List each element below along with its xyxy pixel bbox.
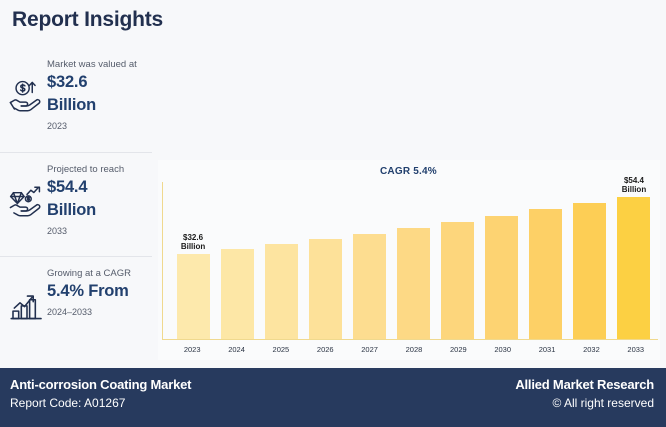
- insights-list: Market was valued at $32.6 Billion 2023 …: [0, 48, 152, 368]
- bar-2027: [353, 234, 386, 339]
- bar-slot: $32.6Billion: [171, 182, 215, 339]
- bar-2030: [485, 216, 518, 340]
- insight-period: 2024–2033: [47, 303, 146, 319]
- bar-slot: [480, 182, 524, 339]
- x-tick-2027: 2027: [347, 342, 391, 358]
- bar-slot: [436, 182, 480, 339]
- x-tick-2024: 2024: [214, 342, 258, 358]
- report-insights-infographic: Report Insights Market was valued at $32…: [0, 0, 666, 427]
- insight-value: $54.4: [47, 176, 146, 199]
- bar-2029: [441, 222, 474, 339]
- insight-item-market-value: Market was valued at $32.6 Billion 2023: [0, 48, 152, 152]
- insight-value: $32.6: [47, 71, 146, 94]
- x-tick-2032: 2032: [569, 342, 613, 358]
- x-tick-2028: 2028: [392, 342, 436, 358]
- bar-2024: [221, 249, 254, 339]
- bar-slot: [303, 182, 347, 339]
- page-title: Report Insights: [12, 8, 163, 32]
- x-tick-2023: 2023: [170, 342, 214, 358]
- bar-2033: [617, 197, 650, 339]
- chart-plot-area: $32.6Billion$54.4Billion: [162, 182, 658, 340]
- insight-period: 2023: [47, 117, 146, 133]
- copyright-notice: © All right reserved: [515, 394, 654, 412]
- cagr-annotation: CAGR 5.4%: [380, 166, 437, 177]
- footer-right-group: Allied Market Research © All right reser…: [515, 376, 654, 412]
- company-name: Allied Market Research: [515, 376, 654, 394]
- footer-left-group: Anti-corrosion Coating Market Report Cod…: [10, 376, 191, 412]
- bar-chart-arrow-up-icon: [6, 284, 48, 326]
- bar-2031: [529, 209, 562, 339]
- insight-item-cagr: Growing at a CAGR 5.4% From 2024–2033: [0, 256, 152, 360]
- x-tick-2030: 2030: [481, 342, 525, 358]
- x-tick-2026: 2026: [303, 342, 347, 358]
- bar-slot: [259, 182, 303, 339]
- bar-series: $32.6Billion$54.4Billion: [171, 182, 656, 339]
- insight-unit: Billion: [47, 94, 146, 117]
- bar-2023: [177, 254, 210, 339]
- market-forecast-bar-chart: CAGR 5.4% $32.6Billion$54.4Billion 20232…: [158, 160, 660, 360]
- bar-slot: [347, 182, 391, 339]
- insight-caption: Projected to reach: [47, 153, 146, 176]
- x-tick-2033: 2033: [614, 342, 658, 358]
- bar-slot: [568, 182, 612, 339]
- bar-2032: [573, 203, 606, 339]
- insight-unit: Billion: [47, 199, 146, 222]
- insight-caption: Market was valued at: [47, 48, 146, 71]
- insight-item-projected-value: Projected to reach $54.4 Billion 2033: [0, 152, 152, 256]
- bar-slot: [524, 182, 568, 339]
- report-code: Report Code: A01267: [10, 394, 191, 412]
- x-tick-2031: 2031: [525, 342, 569, 358]
- x-tick-2029: 2029: [436, 342, 480, 358]
- bar-2026: [309, 239, 342, 339]
- footer-bar: Anti-corrosion Coating Market Report Cod…: [0, 368, 666, 427]
- bar-slot: [215, 182, 259, 339]
- bar-slot: [391, 182, 435, 339]
- x-tick-2025: 2025: [259, 342, 303, 358]
- x-axis-tick-labels: 2023202420252026202720282029203020312032…: [170, 342, 658, 358]
- hand-holding-diamond-growth-icon: [6, 180, 48, 222]
- hand-holding-dollar-growth-icon: [6, 75, 48, 117]
- bar-2025: [265, 244, 298, 339]
- insight-caption: Growing at a CAGR: [47, 257, 146, 280]
- bar-slot: $54.4Billion: [612, 182, 656, 339]
- market-name: Anti-corrosion Coating Market: [10, 376, 191, 394]
- bar-value-label: $54.4Billion: [622, 176, 646, 195]
- insight-period: 2033: [47, 222, 146, 238]
- bar-value-label: $32.6Billion: [181, 233, 205, 252]
- insight-value: 5.4% From: [47, 280, 146, 303]
- bar-2028: [397, 228, 430, 339]
